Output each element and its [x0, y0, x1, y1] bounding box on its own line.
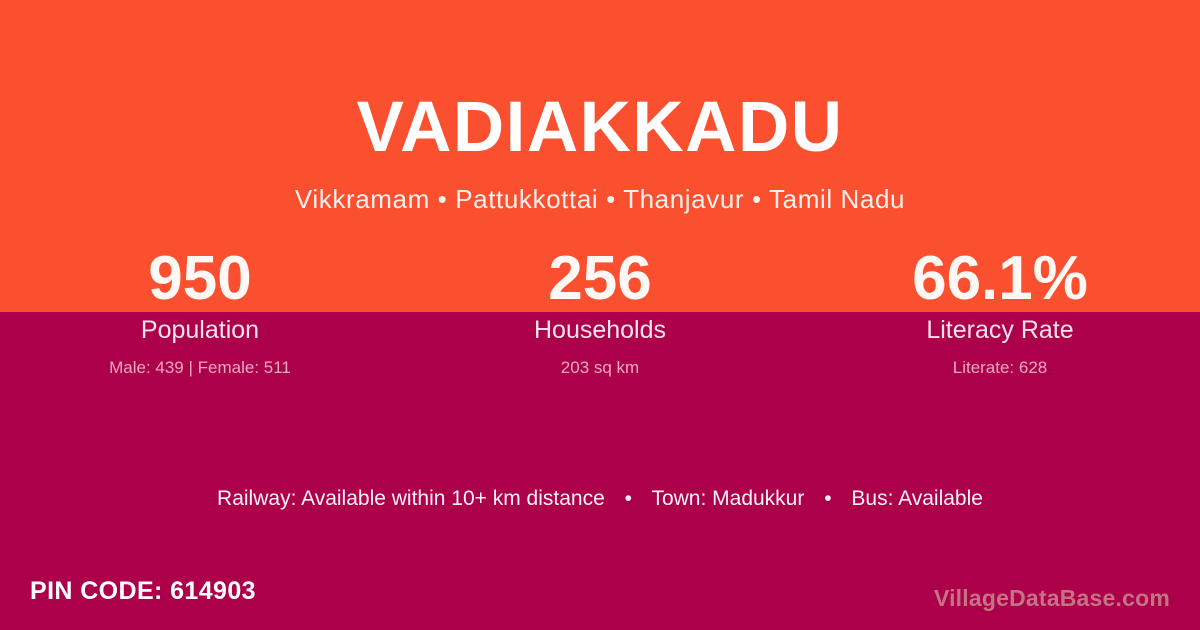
stat-literacy-rate: 66.1% Literacy Rate Literate: 628: [800, 246, 1200, 386]
pin-code-label: PIN CODE: 614903: [30, 575, 256, 607]
stat-label-literacy-rate: Literacy Rate: [800, 314, 1200, 346]
stat-value-households: 256: [400, 246, 800, 312]
stat-sub-households: 203 sq km: [400, 356, 800, 380]
amenity-separator: •: [810, 484, 845, 514]
amenities-row: Railway: Available within 10+ km distanc…: [0, 484, 1200, 514]
amenity-railway: Railway: Available within 10+ km distanc…: [217, 487, 605, 510]
breadcrumb: Vikkramam • Pattukkottai • Thanjavur • T…: [0, 182, 1200, 216]
stat-population: 950 Population Male: 439 | Female: 511: [0, 246, 400, 386]
amenity-town: Town: Madukkur: [651, 487, 804, 510]
stat-households: 256 Households 203 sq km: [400, 246, 800, 386]
stat-sub-population: Male: 439 | Female: 511: [0, 356, 400, 380]
stat-label-households: Households: [400, 314, 800, 346]
stat-value-population: 950: [0, 246, 400, 312]
stat-value-literacy-rate: 66.1%: [800, 246, 1200, 312]
village-info-card: VADIAKKADU Vikkramam • Pattukkottai • Th…: [0, 0, 1200, 630]
brand-watermark: VillageDataBase.com: [934, 583, 1170, 613]
page-title: VADIAKKADU: [0, 88, 1200, 168]
stat-sub-literacy-rate: Literate: 628: [800, 356, 1200, 380]
stats-row: 950 Population Male: 439 | Female: 511 2…: [0, 246, 1200, 386]
amenity-separator: •: [611, 484, 646, 514]
amenity-bus: Bus: Available: [851, 487, 983, 510]
stat-label-population: Population: [0, 314, 400, 346]
